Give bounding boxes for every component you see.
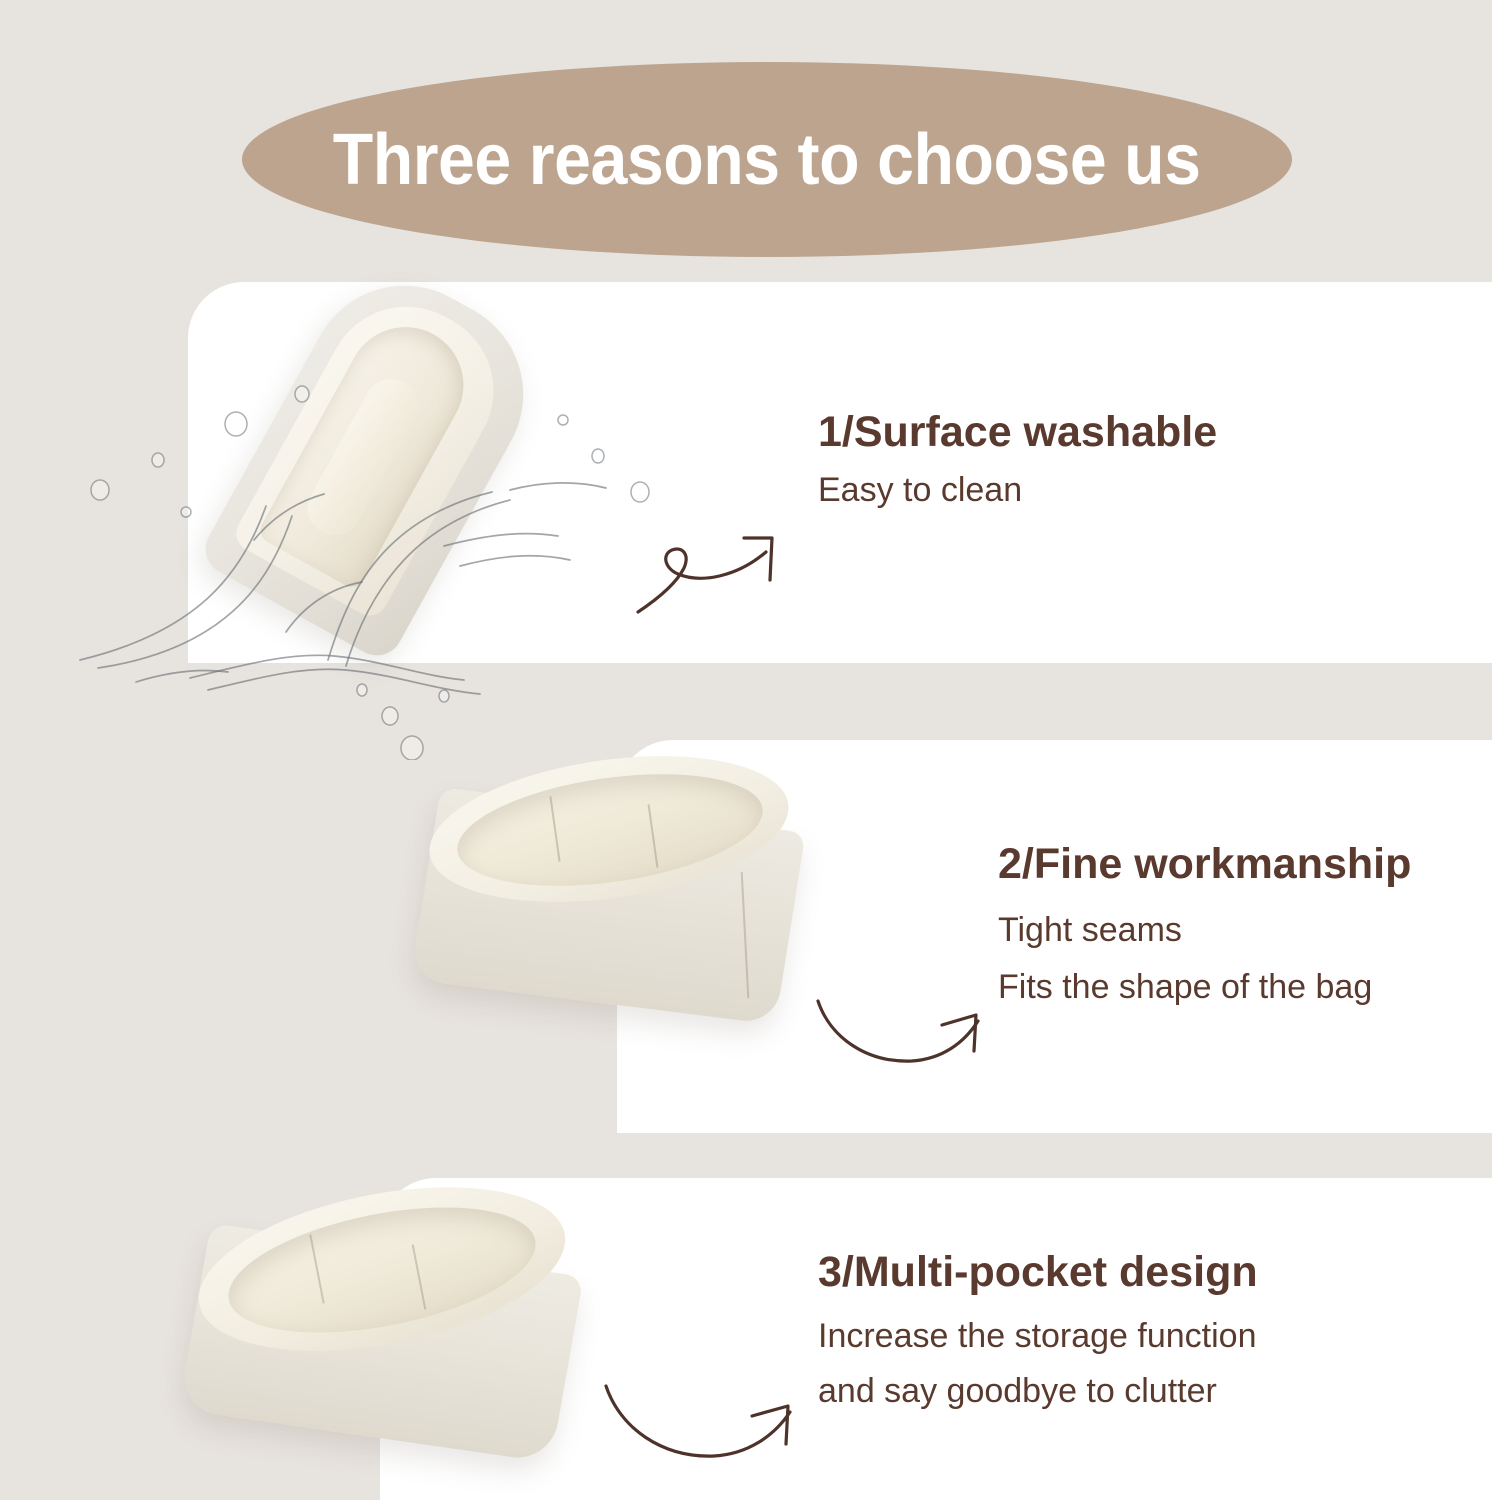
feature-text-2: 2/Fine workmanship Tight seams Fits the … <box>998 840 1411 1025</box>
curly-loop-arrow-icon <box>630 508 830 618</box>
infographic-canvas: Three reasons to choose us <box>0 0 1500 1500</box>
product-image-2 <box>404 752 824 1072</box>
curved-arrow-icon <box>596 1372 816 1482</box>
feature-3-line-1: Increase the storage function <box>818 1317 1258 1356</box>
feature-1-line-1: Easy to clean <box>818 471 1217 510</box>
feature-2-line-1: Tight seams <box>998 911 1411 950</box>
feature-text-3: 3/Multi-pocket design Increase the stora… <box>818 1248 1258 1427</box>
feature-3-title: 3/Multi-pocket design <box>818 1248 1258 1297</box>
product-image-1 <box>248 252 628 672</box>
feature-text-1: 1/Surface washable Easy to clean <box>818 408 1217 510</box>
feature-2-line-2: Fits the shape of the bag <box>998 968 1411 1007</box>
product-image-3 <box>176 1188 606 1500</box>
feature-2-title: 2/Fine workmanship <box>998 840 1411 889</box>
right-edge-strip <box>1492 0 1500 1500</box>
page-title: Three reasons to choose us <box>333 119 1201 201</box>
curved-arrow-icon <box>808 985 1008 1085</box>
feature-1-title: 1/Surface washable <box>818 408 1217 457</box>
header-banner: Three reasons to choose us <box>242 62 1292 257</box>
feature-3-line-2: and say goodbye to clutter <box>818 1372 1258 1411</box>
